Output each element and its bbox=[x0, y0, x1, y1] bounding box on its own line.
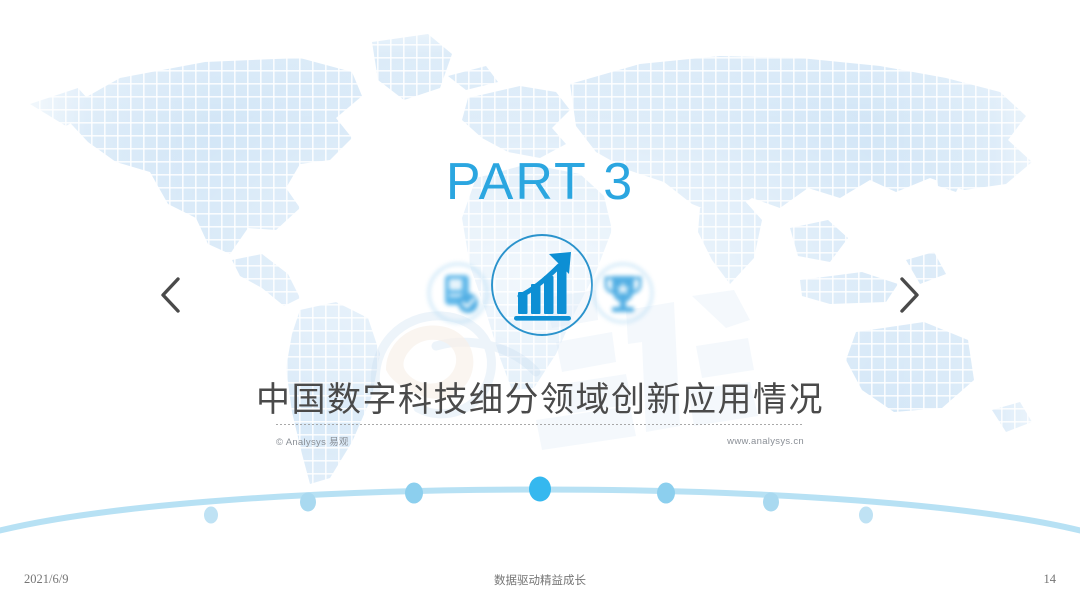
page-title: 中国数字科技细分领域创新应用情况 bbox=[0, 372, 1080, 421]
arc-dot-1 bbox=[204, 507, 218, 524]
footer-page-number: 14 bbox=[1044, 572, 1057, 587]
arc-dot-6 bbox=[763, 493, 779, 512]
copyright-text: © Analysys 易观 bbox=[276, 434, 349, 448]
slide-canvas: PART 3 bbox=[0, 0, 1080, 608]
part-heading: PART 3 bbox=[0, 152, 1080, 212]
document-check-icon bbox=[423, 258, 493, 328]
title-divider bbox=[276, 424, 804, 425]
bar-chart-growth-icon bbox=[487, 230, 597, 340]
arc-dot-2 bbox=[300, 493, 316, 512]
slide-footer: 2021/6/9 数据驱动精益成长 14 bbox=[0, 572, 1080, 598]
footer-note: 数据驱动精益成长 bbox=[0, 572, 1080, 588]
trophy-icon bbox=[588, 258, 658, 328]
arc-dot-3 bbox=[405, 483, 423, 504]
icon-cluster bbox=[0, 230, 1080, 370]
arc-dot-5 bbox=[657, 483, 675, 504]
arc-dot-4 bbox=[529, 477, 551, 502]
credit-row: © Analysys 易观 www.analysys.cn bbox=[276, 434, 804, 448]
website-link[interactable]: www.analysys.cn bbox=[727, 436, 804, 447]
progress-dot-arc bbox=[0, 455, 1080, 550]
arc-dot-7 bbox=[859, 507, 873, 524]
